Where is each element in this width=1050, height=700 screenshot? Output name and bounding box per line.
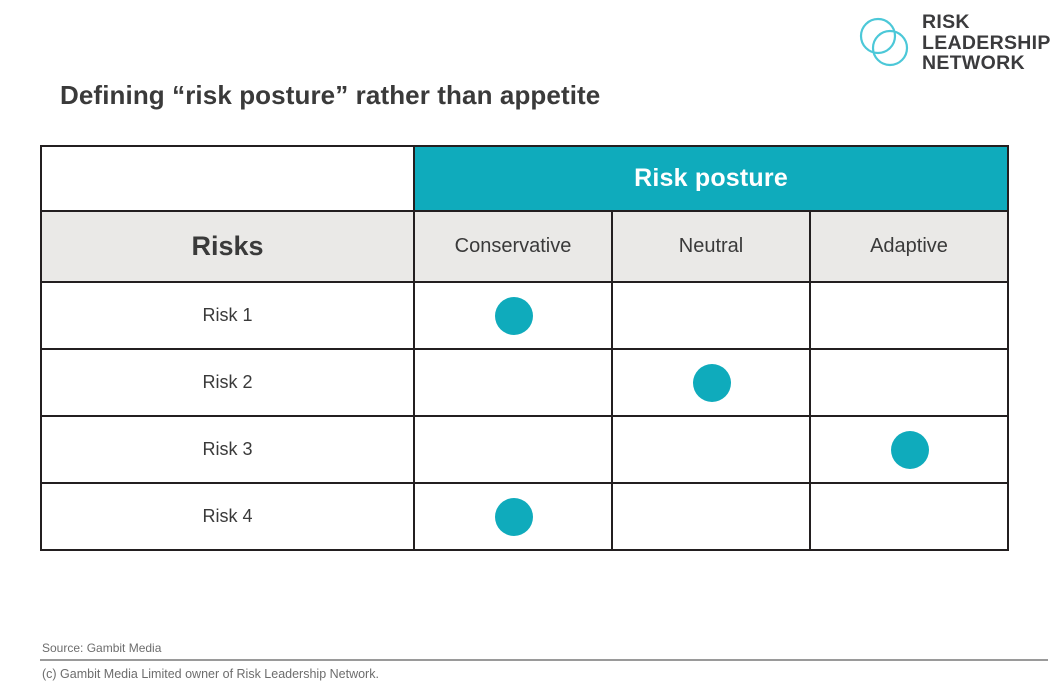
column-header-neutral: Neutral <box>612 211 810 282</box>
table-row: Risk 1 <box>41 282 1008 349</box>
column-header-risks: Risks <box>41 211 414 282</box>
column-header-conservative: Conservative <box>414 211 612 282</box>
brand-logo: RISK LEADERSHIP NETWORK <box>856 12 1036 74</box>
table-row: Risk 3 <box>41 416 1008 483</box>
risk-label: Risk 3 <box>41 416 414 483</box>
footer-divider <box>40 659 1048 661</box>
cell-risk1-conservative[interactable] <box>414 282 612 349</box>
table-band-row: Risk posture <box>41 146 1008 211</box>
copyright-note: (c) Gambit Media Limited owner of Risk L… <box>42 667 379 681</box>
posture-marker-dot <box>495 498 533 536</box>
cell-risk2-conservative[interactable] <box>414 349 612 416</box>
cell-risk3-neutral[interactable] <box>612 416 810 483</box>
cell-risk1-neutral[interactable] <box>612 282 810 349</box>
risk-posture-table: Risk posture Risks Conservative Neutral … <box>40 145 1009 551</box>
two-overlapping-circles-logo-icon <box>856 17 914 69</box>
posture-marker-dot <box>891 431 929 469</box>
posture-marker-dot <box>495 297 533 335</box>
risk-label: Risk 4 <box>41 483 414 550</box>
page-title: Defining “risk posture” rather than appe… <box>60 80 600 111</box>
cell-risk2-neutral[interactable] <box>612 349 810 416</box>
table-row: Risk 4 <box>41 483 1008 550</box>
brand-line-1: RISK <box>922 12 1050 33</box>
cell-risk4-neutral[interactable] <box>612 483 810 550</box>
cell-risk4-adaptive[interactable] <box>810 483 1008 550</box>
cell-risk3-conservative[interactable] <box>414 416 612 483</box>
risk-posture-band-header: Risk posture <box>414 146 1008 211</box>
brand-logo-wordmark: RISK LEADERSHIP NETWORK <box>922 12 1050 74</box>
column-header-adaptive: Adaptive <box>810 211 1008 282</box>
risk-label: Risk 1 <box>41 282 414 349</box>
cell-risk1-adaptive[interactable] <box>810 282 1008 349</box>
table-corner-cell <box>41 146 414 211</box>
cell-risk2-adaptive[interactable] <box>810 349 1008 416</box>
source-note: Source: Gambit Media <box>42 641 161 655</box>
table-header-row: Risks Conservative Neutral Adaptive <box>41 211 1008 282</box>
table-row: Risk 2 <box>41 349 1008 416</box>
cell-risk4-conservative[interactable] <box>414 483 612 550</box>
brand-line-2: LEADERSHIP <box>922 33 1050 54</box>
brand-line-3: NETWORK <box>922 53 1050 74</box>
risk-label: Risk 2 <box>41 349 414 416</box>
posture-marker-dot <box>693 364 731 402</box>
cell-risk3-adaptive[interactable] <box>810 416 1008 483</box>
